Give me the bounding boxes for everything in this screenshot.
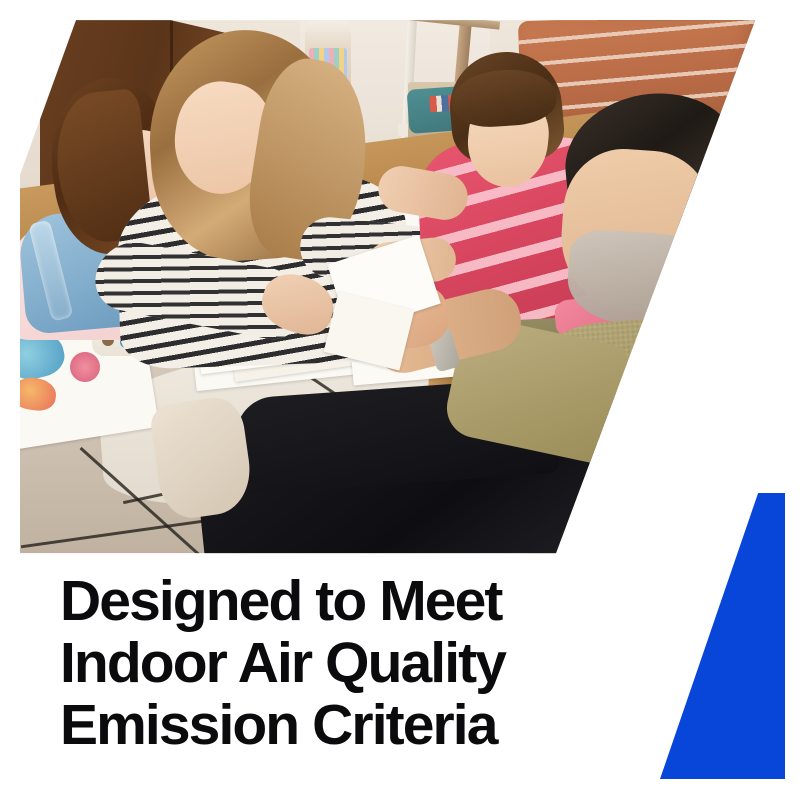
poster-canvas: Designed to Meet Indoor Air Quality Emis… [0, 0, 800, 800]
man-neck [640, 290, 732, 360]
flower-drawing [70, 352, 100, 382]
page-title: Designed to Meet Indoor Air Quality Emis… [60, 570, 620, 756]
blue-accent-shape [660, 493, 785, 779]
man-ear [688, 200, 728, 252]
hero-photo [0, 0, 800, 575]
photo-scene [0, 0, 800, 575]
